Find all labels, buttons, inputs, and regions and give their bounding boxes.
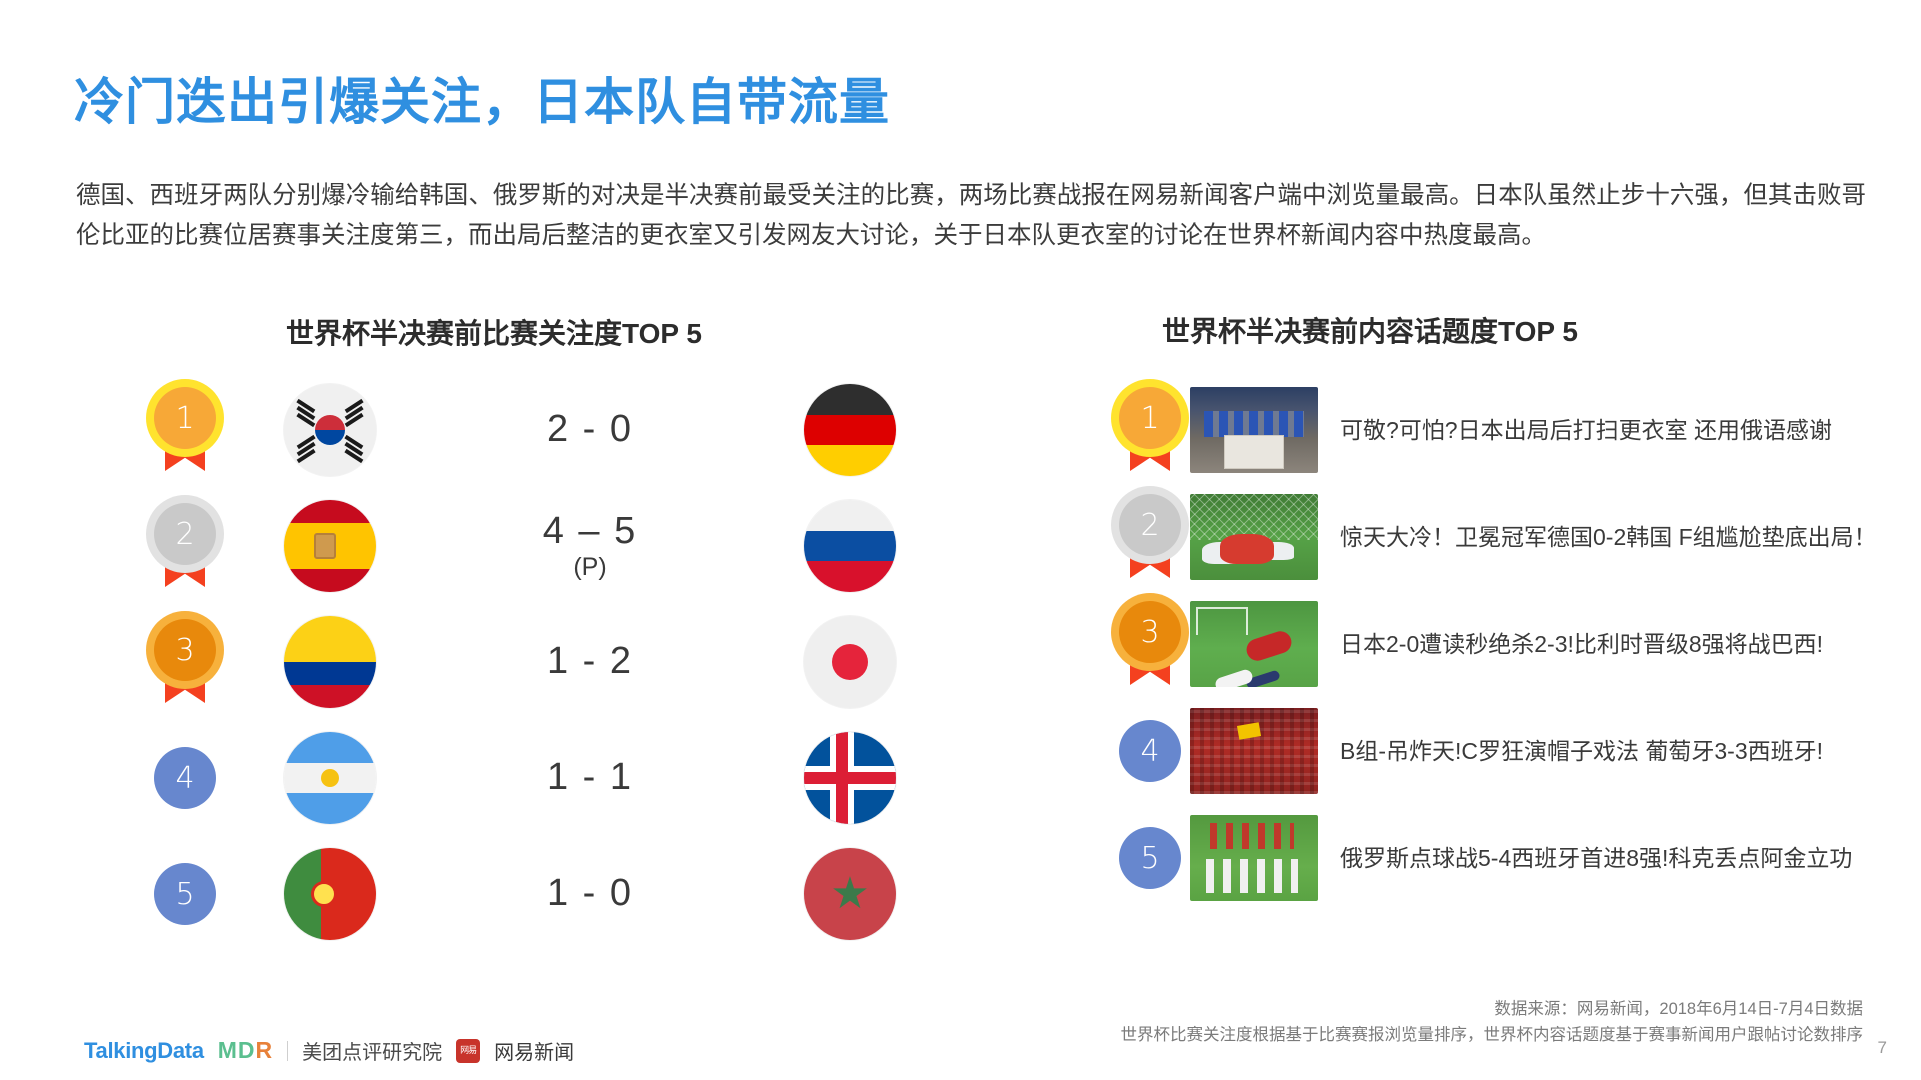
match-ranking-list: 1 2 - 0 [120, 372, 930, 952]
korea-goal-photo [1190, 494, 1318, 580]
flag-band [284, 685, 376, 708]
match-row: 3 1 - 2 [120, 604, 930, 720]
flag-band [804, 531, 896, 562]
match-row: 5 1 - 0 ★ [120, 836, 930, 952]
source-note: 数据来源：网易新闻，2018年6月14日-7月4日数据 世界杯比赛关注度根据基于… [1121, 996, 1864, 1048]
score-value: 1 - 2 [547, 640, 633, 682]
rank-number: 3 [154, 619, 216, 681]
headline-text: B组-吊炸天!C罗狂演帽子戏法 葡萄牙3-3西班牙! [1340, 734, 1900, 768]
rank-cell: 2 [1110, 494, 1190, 580]
rank-number: 2 [154, 503, 216, 565]
iceland-flag [804, 732, 896, 824]
topic-ranking-list: 1 可敬?可怕?日本出局后打扫更衣室 还用俄语感谢 2 惊天大冷！卫冕冠军德国0… [1110, 382, 1900, 917]
headline-text: 惊天大冷！卫冕冠军德国0-2韩国 F组尴尬垫底出局！ [1340, 520, 1900, 554]
mdr-logo: MDR [218, 1037, 273, 1064]
away-flag-cell [770, 500, 930, 592]
source-line-1: 数据来源：网易新闻，2018年6月14日-7月4日数据 [1121, 996, 1864, 1022]
colombia-flag [284, 616, 376, 708]
morocco-flag: ★ [804, 848, 896, 940]
rank-number: 1 [1119, 387, 1181, 449]
rank-cell: 1 [1110, 387, 1190, 473]
page-title: 冷门迭出引爆关注，日本队自带流量 [74, 62, 890, 134]
rank-cell: 4 [1110, 720, 1190, 782]
russia-flag [804, 500, 896, 592]
rank-cell: 5 [120, 863, 250, 925]
flag-band [284, 569, 376, 592]
flag-band [284, 500, 376, 523]
rank-cell: 5 [1110, 827, 1190, 889]
intro-paragraph: 德国、西班牙两队分别爆冷输给韩国、俄罗斯的对决是半决赛前最受关注的比赛，两场比赛… [76, 176, 1866, 256]
netease-badge-icon: 网易 [456, 1039, 480, 1063]
medal-badge-5: 5 [154, 863, 216, 925]
list-item[interactable]: 3 日本2-0遭读秒绝杀2-3!比利时晋级8强将战巴西! [1110, 596, 1900, 692]
medal-badge-3: 3 [154, 619, 216, 705]
mdr-logo-r: R [256, 1037, 274, 1063]
list-item[interactable]: 4 B组-吊炸天!C罗狂演帽子戏法 葡萄牙3-3西班牙! [1110, 703, 1900, 799]
flag-cross [804, 772, 896, 784]
home-flag-cell [250, 384, 410, 476]
page-number: 7 [1878, 1038, 1887, 1058]
germany-flag [804, 384, 896, 476]
score-value: 4 – 5 [543, 510, 638, 552]
taegeuk-icon [315, 415, 345, 445]
headline-text: 俄罗斯点球战5-4西班牙首进8强!科克丢点阿金立功 [1340, 841, 1900, 875]
portugal-flag [284, 848, 376, 940]
rank-cell: 2 [120, 503, 250, 589]
headline-text: 可敬?可怕?日本出局后打扫更衣室 还用俄语感谢 [1340, 413, 1900, 447]
coat-of-arms-icon [314, 533, 336, 559]
rank-number: 4 [1119, 720, 1181, 782]
pentagram-icon: ★ [830, 874, 870, 914]
home-flag-cell [250, 848, 410, 940]
left-section-heading: 世界杯半决赛前比赛关注度TOP 5 [286, 312, 702, 352]
korea-flag [284, 384, 376, 476]
rank-cell: 3 [120, 619, 250, 705]
score-value: 2 - 0 [547, 408, 633, 450]
right-section-heading: 世界杯半决赛前内容话题度TOP 5 [1162, 310, 1578, 350]
away-flag-cell [770, 616, 930, 708]
rising-sun-icon [832, 644, 868, 680]
armillary-sphere-icon [311, 881, 337, 907]
flag-band [284, 616, 376, 662]
away-flag-cell: ★ [770, 848, 930, 940]
score-cell: 2 - 0 [410, 410, 770, 450]
headline-text: 日本2-0遭读秒绝杀2-3!比利时晋级8强将战巴西! [1340, 627, 1900, 661]
medal-badge-1: 1 [1119, 387, 1181, 473]
rank-number: 4 [154, 747, 216, 809]
rank-number: 5 [1119, 827, 1181, 889]
rank-number: 5 [154, 863, 216, 925]
medal-badge-3: 3 [1119, 601, 1181, 687]
logo-divider [287, 1041, 288, 1061]
belgium-japan-photo [1190, 601, 1318, 687]
rank-number: 3 [1119, 601, 1181, 663]
rank-number: 1 [154, 387, 216, 449]
match-row: 4 1 - 1 [120, 720, 930, 836]
mdr-logo-m: MD [218, 1037, 256, 1063]
score-cell: 1 - 2 [410, 642, 770, 682]
footer-logos: TalkingData MDR 美团点评研究院 网易 网易新闻 [84, 1036, 574, 1065]
score-note: (P) [410, 554, 770, 580]
portugal-fans-photo [1190, 708, 1318, 794]
flag-band [804, 500, 896, 531]
home-flag-cell [250, 732, 410, 824]
rank-cell: 3 [1110, 601, 1190, 687]
flag-band [804, 445, 896, 476]
flag-band [284, 793, 376, 824]
rank-number: 2 [1119, 494, 1181, 556]
sun-of-may-icon [321, 769, 339, 787]
russia-celebrate-photo [1190, 815, 1318, 901]
list-item[interactable]: 2 惊天大冷！卫冕冠军德国0-2韩国 F组尴尬垫底出局！ [1110, 489, 1900, 585]
medal-badge-2: 2 [1119, 494, 1181, 580]
away-flag-cell [770, 732, 930, 824]
medal-badge-2: 2 [154, 503, 216, 589]
flag-band [284, 662, 376, 685]
medal-badge-4: 4 [1119, 720, 1181, 782]
netease-news-logo: 网易新闻 [494, 1036, 574, 1065]
medal-badge-5: 5 [1119, 827, 1181, 889]
rank-cell: 1 [120, 387, 250, 473]
match-row: 2 4 – 5 (P) [120, 488, 930, 604]
japan-flag [804, 616, 896, 708]
score-value: 1 - 0 [547, 872, 633, 914]
locker-room-photo [1190, 387, 1318, 473]
medal-badge-1: 1 [154, 387, 216, 473]
flag-band [804, 384, 896, 415]
score-cell: 1 - 0 [410, 874, 770, 914]
meituan-research-logo: 美团点评研究院 [302, 1036, 442, 1065]
score-value: 1 - 1 [547, 756, 633, 798]
talkingdata-logo: TalkingData [84, 1038, 204, 1064]
spain-flag [284, 500, 376, 592]
list-item[interactable]: 5 俄罗斯点球战5-4西班牙首进8强!科克丢点阿金立功 [1110, 810, 1900, 906]
source-line-2: 世界杯比赛关注度根据基于比赛赛报浏览量排序，世界杯内容话题度基于赛事新闻用户跟帖… [1121, 1022, 1864, 1048]
match-row: 1 2 - 0 [120, 372, 930, 488]
flag-cross [836, 732, 848, 824]
flag-band [804, 415, 896, 446]
medal-badge-4: 4 [154, 747, 216, 809]
away-flag-cell [770, 384, 930, 476]
home-flag-cell [250, 500, 410, 592]
home-flag-cell [250, 616, 410, 708]
flag-band [804, 561, 896, 592]
list-item[interactable]: 1 可敬?可怕?日本出局后打扫更衣室 还用俄语感谢 [1110, 382, 1900, 478]
flag-band [284, 732, 376, 763]
argentina-flag [284, 732, 376, 824]
score-cell: 1 - 1 [410, 758, 770, 798]
score-cell: 4 – 5 (P) [410, 512, 770, 580]
rank-cell: 4 [120, 747, 250, 809]
